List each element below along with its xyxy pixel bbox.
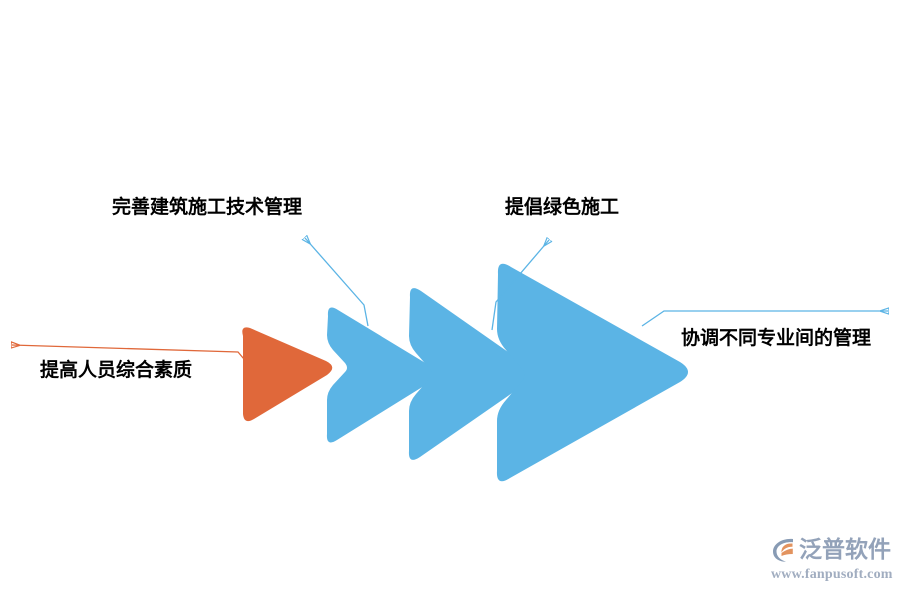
watermark-brand-text: 泛普软件 (799, 539, 891, 562)
callout-label-promote-green-construction: 提倡绿色施工 (505, 198, 619, 219)
callout-label-improve-construction-tech-management: 完善建筑施工技术管理 (112, 198, 302, 219)
diagram-canvas: 完善建筑施工技术管理 提倡绿色施工 提高人员综合素质 协调不同专业间的管理 泛普… (0, 0, 900, 600)
stage-1-orange-triangle[interactable] (242, 327, 332, 421)
watermark-row: 泛普软件 (770, 534, 891, 566)
callout-label-coordinate-disciplines-management: 协调不同专业间的管理 (681, 329, 871, 350)
watermark-url-text: www.fanpusoft.com (771, 567, 893, 583)
callout-label-improve-personnel-quality: 提高人员综合素质 (40, 361, 192, 382)
connector-coordinate-disciplines-management (642, 311, 888, 326)
shape-group (242, 264, 688, 481)
fanpu-logo-icon (770, 536, 796, 564)
process-chevron-diagram (0, 0, 900, 600)
stage-4-blue-chevron[interactable] (497, 264, 688, 481)
watermark-logo: 泛普软件 www.fanpusoft.com (770, 534, 892, 590)
